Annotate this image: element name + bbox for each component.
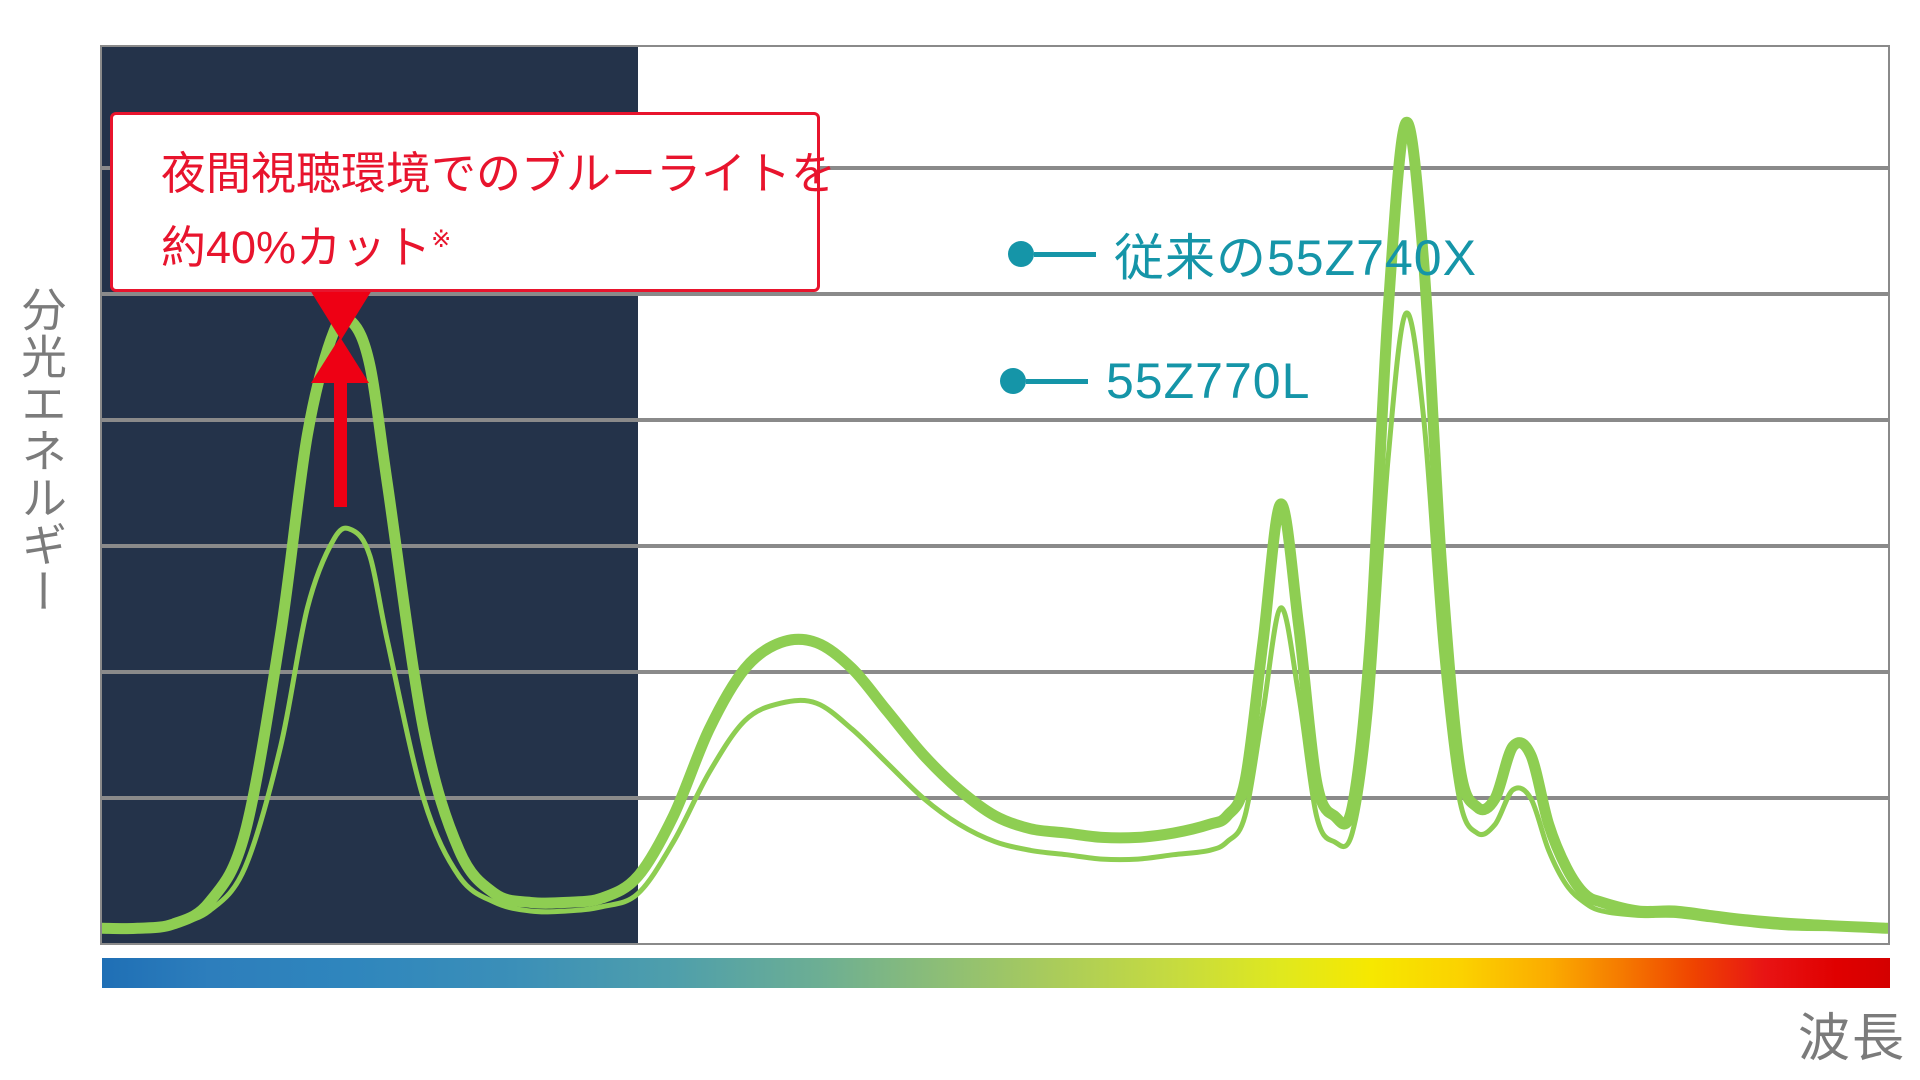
callout-box: 夜間視聴環境でのブルーライトを 約40%カット※ [110,112,820,292]
footnote-mark: ※ [431,226,451,253]
callout-line-2: 約40%カット※ [161,207,787,281]
x-axis-title: 波長 [1798,996,1906,1071]
legend-item-previous[interactable]: 従来の55Z740X [1008,218,1477,290]
legend-label-previous: 従来の55Z740X [1114,218,1477,290]
callout-line-2-text: 約40%カット [161,222,431,273]
legend-leader-line [1034,252,1096,257]
legend-leader-line [1026,379,1088,384]
y-axis-title: 分光エネルギー [6,180,76,720]
legend-item-current[interactable]: 55Z770L [1000,352,1310,410]
callout-line-1: 夜間視聴環境でのブルーライトを [161,141,787,207]
legend-dot-icon [1008,241,1034,267]
legend-dot-icon [1000,368,1026,394]
spectral-energy-chart: 分光エネルギー 夜間視聴環境でのブルーライトを 約40%カット※ 従来の55Z7… [0,0,1920,1080]
wavelength-spectrum-bar [102,958,1890,988]
legend-label-current: 55Z770L [1106,352,1310,410]
arrow-down-icon [310,290,372,340]
arrow-shaft [334,355,347,507]
series-line-previous [102,313,1888,929]
